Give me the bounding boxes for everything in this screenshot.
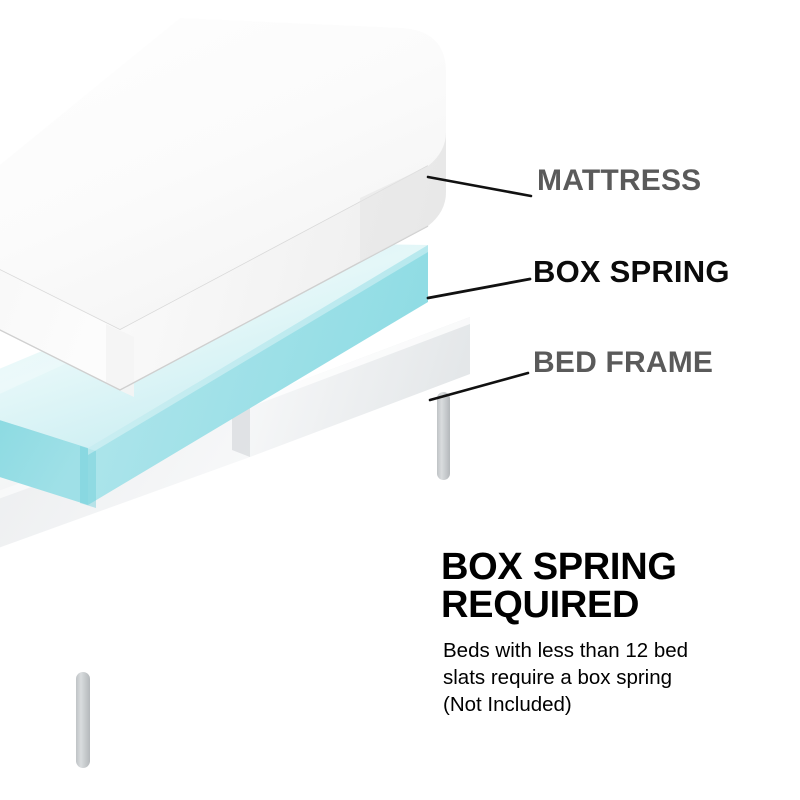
notice-heading-line-2: REQUIRED — [441, 586, 789, 624]
frame-leg-right — [437, 392, 450, 480]
callout-label-boxspring: BOX SPRING — [533, 254, 730, 290]
leader-line-boxspring — [428, 279, 530, 298]
product-diagram-canvas: MATTRESS BOX SPRING BED FRAME BOX SPRING… — [0, 0, 800, 800]
notice-heading-line-1: BOX SPRING — [441, 548, 789, 586]
notice-body-line-1: Beds with less than 12 bed — [443, 637, 789, 664]
box-spring-corner-bevel — [80, 446, 96, 508]
notice-heading: BOX SPRING REQUIRED — [441, 548, 789, 624]
callout-label-bedframe: BED FRAME — [533, 346, 713, 380]
notice-body: Beds with less than 12 bed slats require… — [443, 637, 789, 718]
callout-label-mattress: MATTRESS — [537, 164, 701, 198]
notice-body-line-3: (Not Included) — [443, 691, 789, 718]
box-spring-required-notice: BOX SPRING REQUIRED Beds with less than … — [441, 548, 789, 718]
notice-body-line-2: slats require a box spring — [443, 664, 789, 691]
frame-leg-near-corner — [76, 672, 90, 768]
